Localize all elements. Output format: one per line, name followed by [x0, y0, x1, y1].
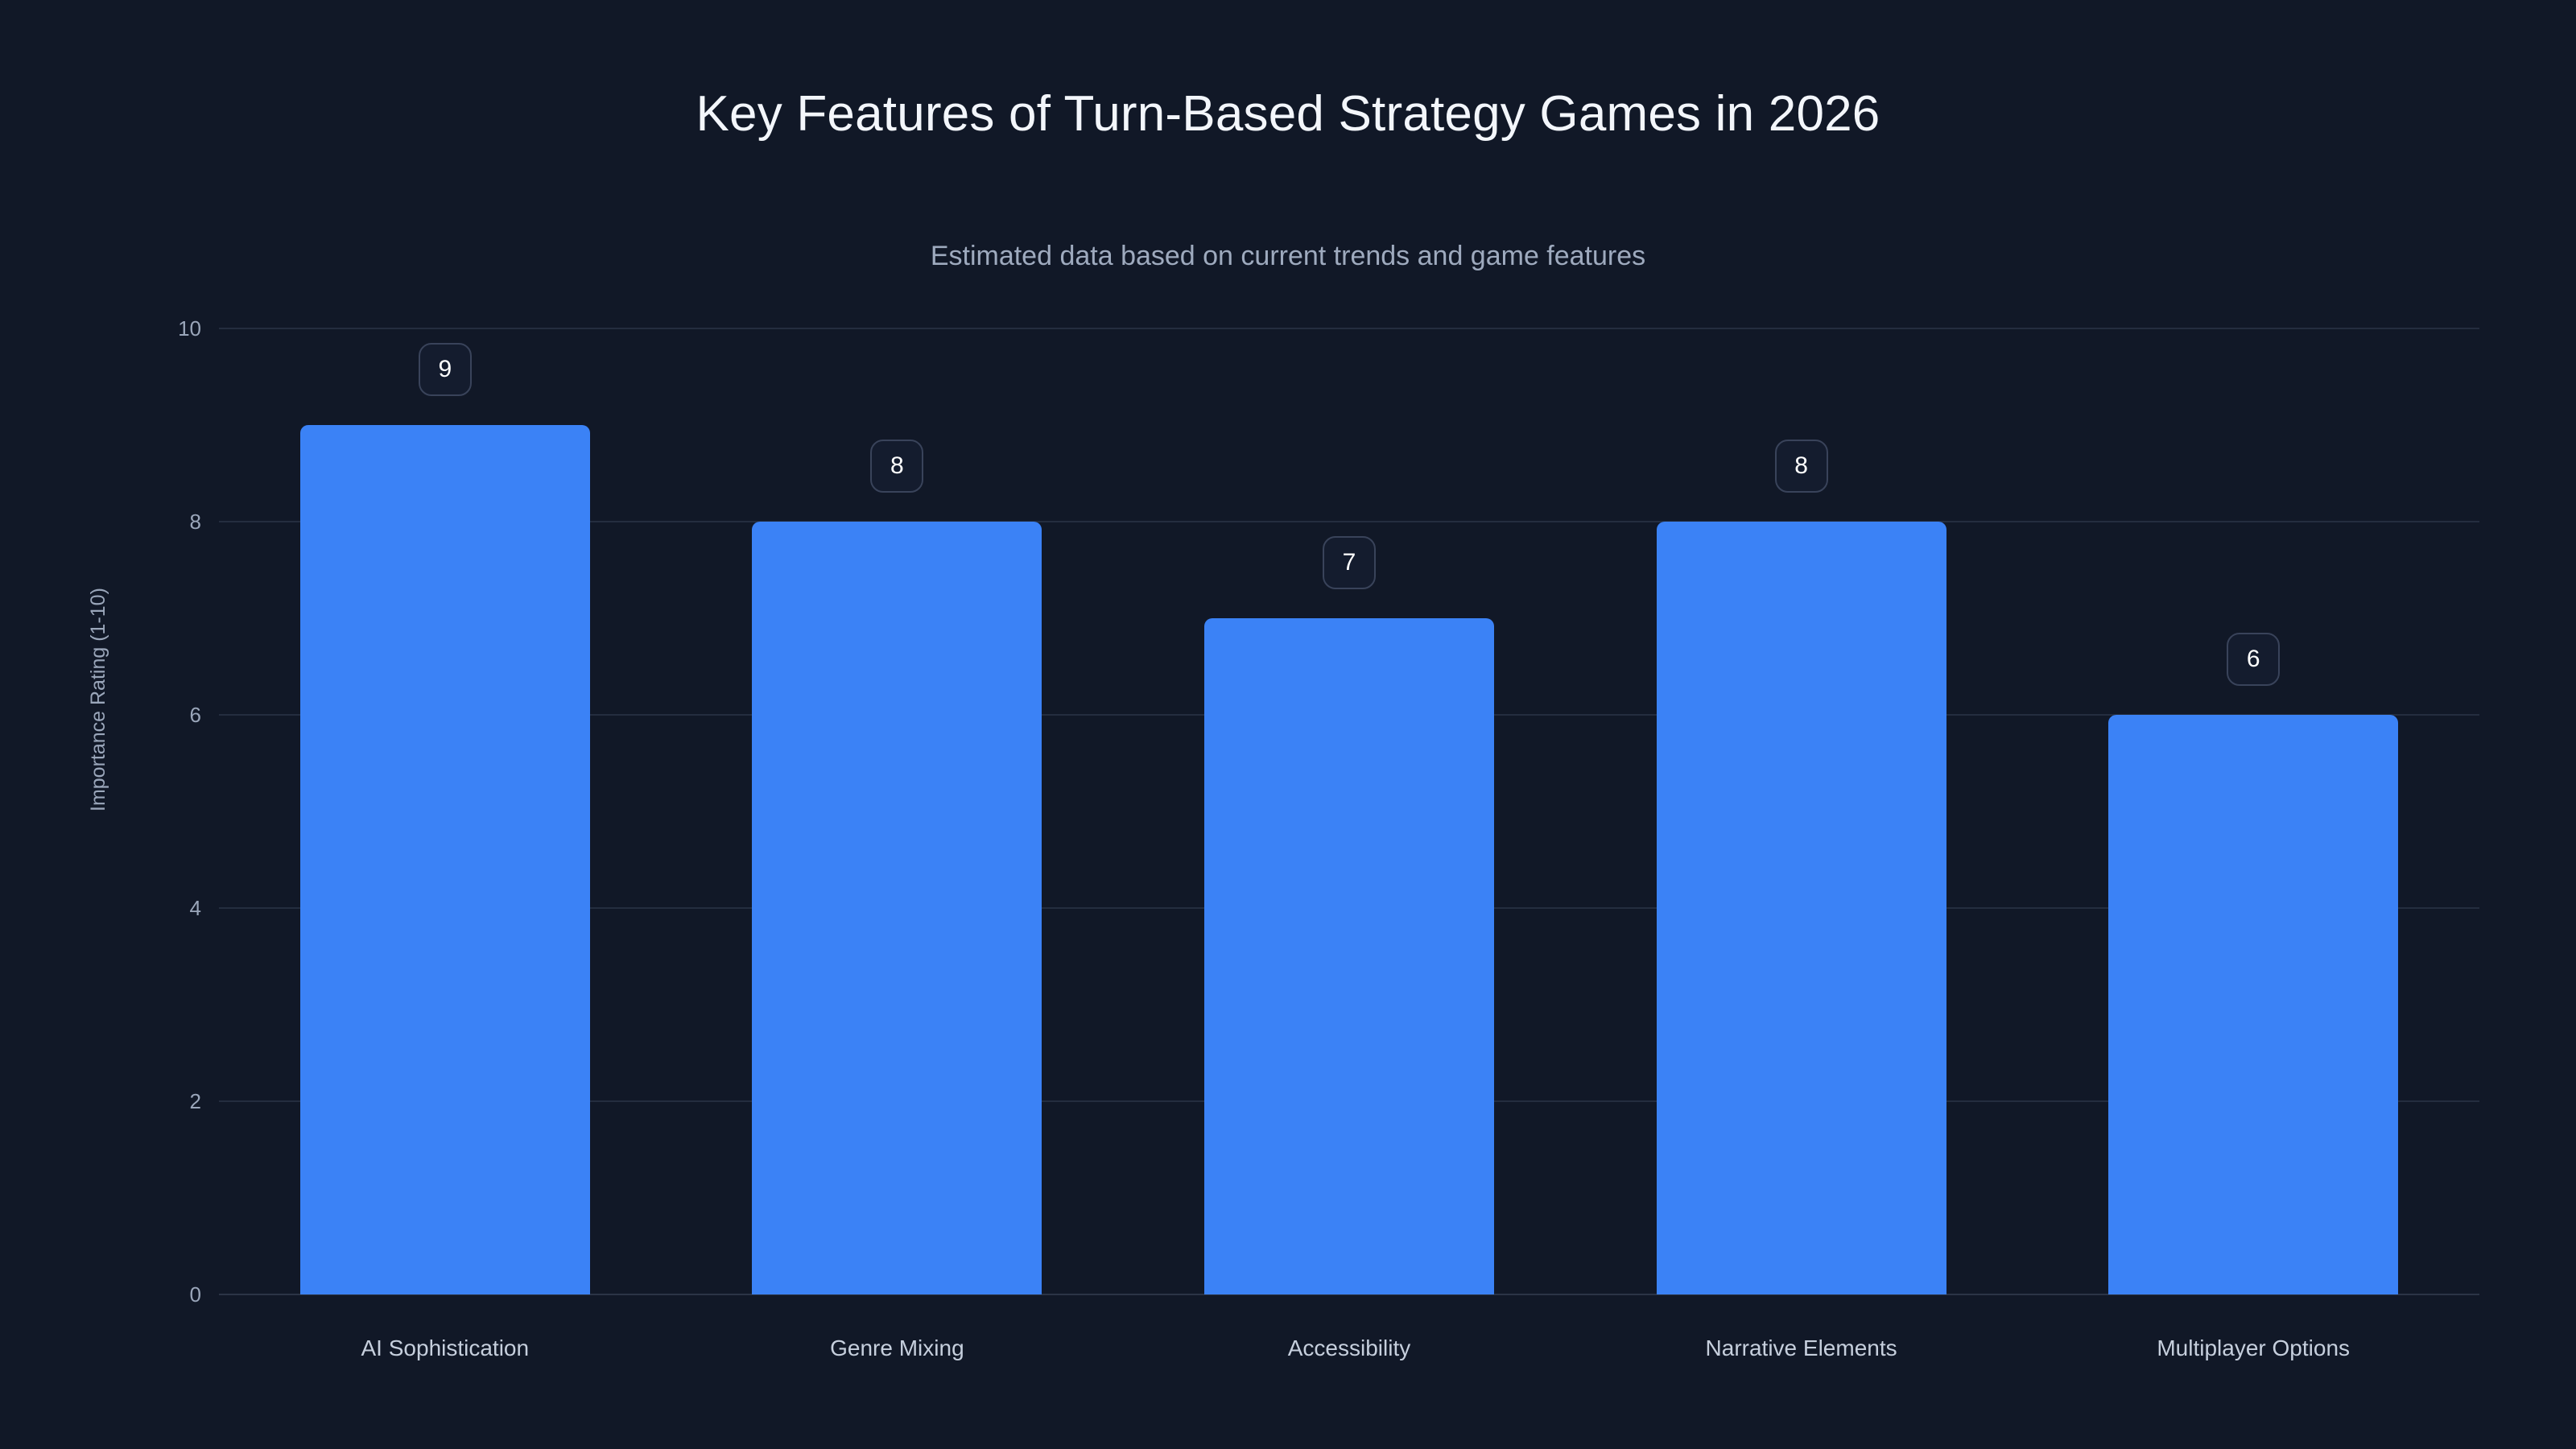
bar[interactable]	[1204, 618, 1494, 1294]
plot-area	[219, 328, 2479, 1294]
x-axis-category-label: Narrative Elements	[1706, 1337, 1897, 1360]
x-axis-category-label: Multiplayer Options	[2157, 1337, 2350, 1360]
y-axis-tick-label: 0	[121, 1284, 201, 1305]
bar[interactable]	[2108, 715, 2398, 1294]
bar-value-badge: 7	[1323, 536, 1376, 589]
bar[interactable]	[300, 425, 590, 1294]
x-axis-category-label: AI Sophistication	[361, 1337, 530, 1360]
chart-subtitle: Estimated data based on current trends a…	[0, 242, 2576, 271]
y-axis-tick-label: 4	[121, 898, 201, 919]
y-axis-tick-label: 2	[121, 1091, 201, 1112]
x-axis-category-label: Accessibility	[1288, 1337, 1410, 1360]
gridline	[219, 328, 2479, 329]
y-axis-tick-label: 10	[121, 318, 201, 339]
bar-value-badge: 6	[2227, 633, 2280, 686]
bar[interactable]	[1657, 522, 1946, 1294]
bar-chart-canvas: Key Features of Turn-Based Strategy Game…	[0, 0, 2576, 1449]
bar-value-badge: 8	[1775, 440, 1828, 493]
y-axis-tick-label: 6	[121, 704, 201, 725]
x-axis-category-label: Genre Mixing	[830, 1337, 964, 1360]
y-axis-title: Importance Rating (1-10)	[89, 588, 109, 811]
chart-title: Key Features of Turn-Based Strategy Game…	[0, 87, 2576, 142]
bar-value-badge: 9	[419, 343, 472, 396]
y-axis-tick-label: 8	[121, 511, 201, 532]
bar-value-badge: 8	[870, 440, 923, 493]
bar[interactable]	[752, 522, 1042, 1294]
